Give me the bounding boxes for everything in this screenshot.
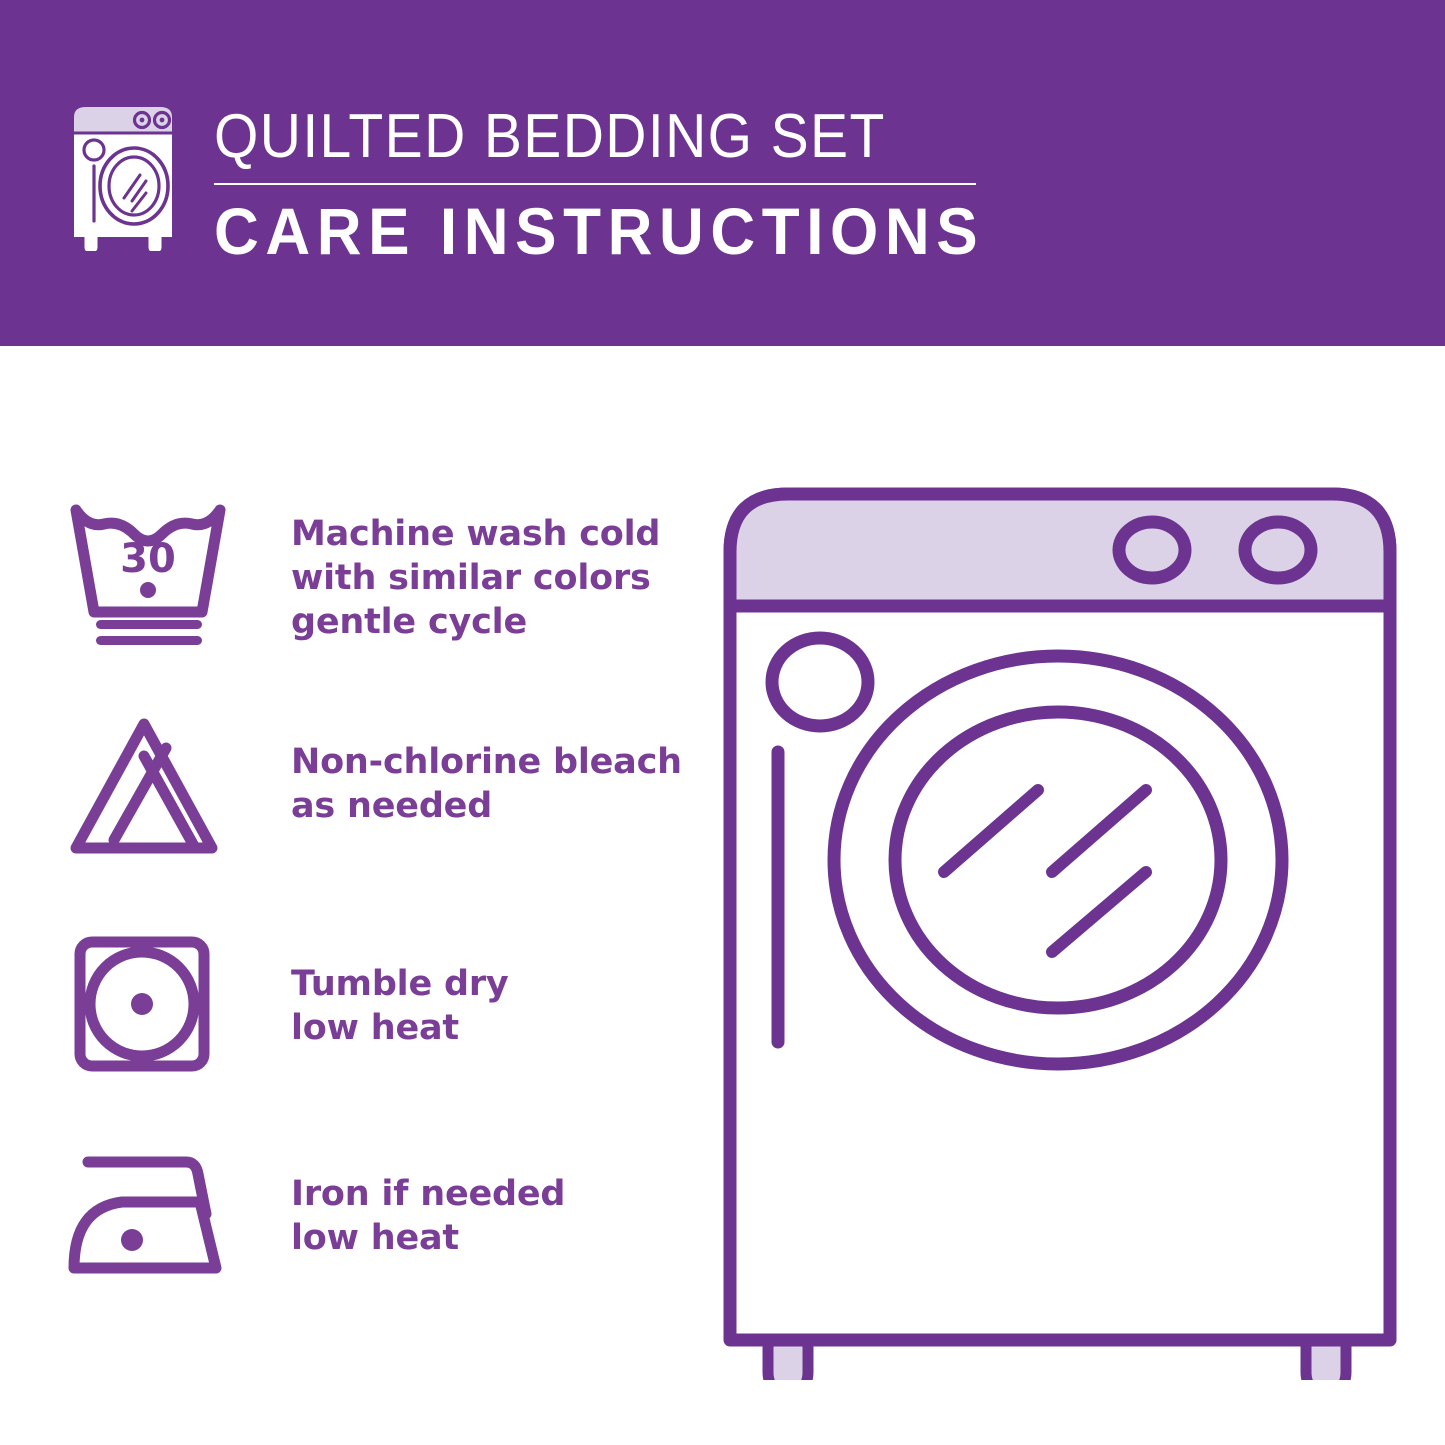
care-item-bleach: Non-chlorine bleach as needed [66, 712, 686, 862]
tumble-dry-low-icon [66, 930, 241, 1080]
care-item-iron: Iron if needed low heat [66, 1140, 686, 1290]
care-item-dry: Tumble dry low heat [66, 930, 686, 1080]
machine-control-panel [730, 494, 1390, 606]
wash-tub-30-icon: 30 [66, 498, 241, 648]
header-text-block: QUILTED BEDDING SET CARE INSTRUCTIONS [214, 100, 994, 270]
care-instructions-infographic: QUILTED BEDDING SET CARE INSTRUCTIONS 30… [0, 0, 1445, 1445]
care-item-bleach-label: Non-chlorine bleach as needed [291, 740, 682, 828]
non-chlorine-bleach-triangle-icon [66, 712, 241, 862]
care-item-iron-label: Iron if needed low heat [291, 1172, 565, 1260]
care-item-dry-label: Tumble dry low heat [291, 962, 509, 1050]
care-item-wash-label: Machine wash cold with similar colors ge… [291, 512, 660, 644]
machine-body [730, 494, 1390, 1340]
front-load-washing-machine-illustration [700, 460, 1420, 1380]
header-banner: QUILTED BEDDING SET CARE INSTRUCTIONS [0, 0, 1445, 346]
page-title: QUILTED BEDDING SET [214, 100, 932, 174]
header-divider [214, 183, 976, 185]
washing-machine-icon [66, 103, 186, 251]
page-subtitle: CARE INSTRUCTIONS [214, 192, 947, 270]
wash-temp-label: 30 [120, 536, 176, 582]
care-item-wash: 30 Machine wash cold with similar colors… [66, 498, 686, 648]
iron-low-heat-icon [66, 1140, 241, 1290]
